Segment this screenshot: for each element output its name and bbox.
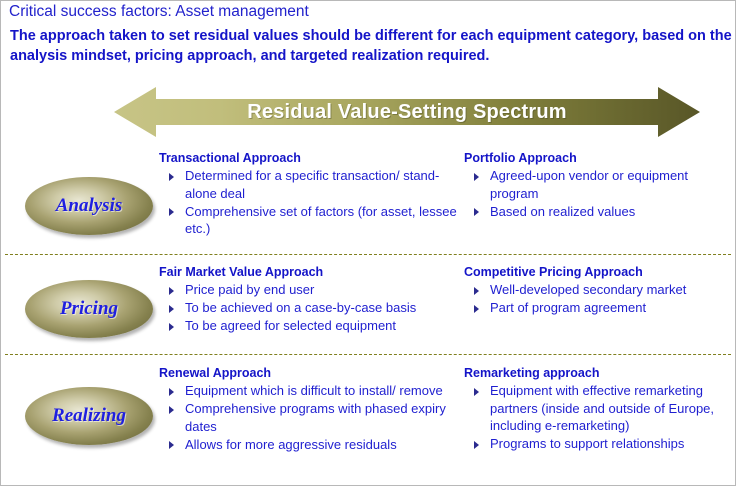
bullet-triangle-icon (169, 441, 174, 449)
list-item-text: Equipment which is difficult to install/… (185, 383, 443, 398)
bullet-triangle-icon (169, 406, 174, 414)
bullet-triangle-icon (474, 208, 479, 216)
list-item-text: Determined for a specific transaction/ s… (185, 168, 439, 201)
stage-badge-analysis: Analysis (25, 177, 153, 235)
list-item: Agreed-upon vendor or equipment program (464, 167, 734, 202)
list-item: Determined for a specific transaction/ s… (159, 167, 459, 202)
realizing-right-title: Remarketing approach (464, 366, 734, 380)
double-headed-arrow-icon (114, 85, 700, 139)
bullet-triangle-icon (169, 305, 174, 313)
list-item-text: To be agreed for selected equipment (185, 318, 396, 333)
slide-canvas: Critical success factors: Asset manageme… (0, 0, 736, 486)
analysis-right-title: Portfolio Approach (464, 151, 734, 165)
pricing-right-column: Competitive Pricing Approach Well-develo… (464, 265, 734, 317)
list-item: Equipment with effective remarketing par… (464, 382, 734, 435)
realizing-left-column: Renewal Approach Equipment which is diff… (159, 366, 459, 454)
bullet-triangle-icon (169, 323, 174, 331)
realizing-right-column: Remarketing approach Equipment with effe… (464, 366, 734, 453)
list-item: Equipment which is difficult to install/… (159, 382, 459, 400)
analysis-left-column: Transactional Approach Determined for a … (159, 151, 459, 238)
analysis-left-bullets: Determined for a specific transaction/ s… (159, 167, 459, 238)
list-item: Allows for more aggressive residuals (159, 436, 459, 454)
bullet-triangle-icon (169, 388, 174, 396)
list-item-text: Price paid by end user (185, 282, 314, 297)
list-item-text: Programs to support relationships (490, 436, 684, 451)
list-item: Comprehensive set of factors (for asset,… (159, 203, 459, 238)
bullet-triangle-icon (169, 208, 174, 216)
list-item: To be achieved on a case-by-case basis (159, 299, 459, 317)
bullet-triangle-icon (474, 173, 479, 181)
bullet-triangle-icon (474, 287, 479, 295)
list-item-text: Based on realized values (490, 204, 635, 219)
pricing-left-column: Fair Market Value Approach Price paid by… (159, 265, 459, 335)
analysis-right-bullets: Agreed-upon vendor or equipment program … (464, 167, 734, 220)
list-item: To be agreed for selected equipment (159, 317, 459, 335)
bullet-triangle-icon (474, 441, 479, 449)
realizing-left-title: Renewal Approach (159, 366, 459, 380)
list-item-text: To be achieved on a case-by-case basis (185, 300, 416, 315)
pricing-left-title: Fair Market Value Approach (159, 265, 459, 279)
list-item-text: Comprehensive set of factors (for asset,… (185, 204, 457, 237)
list-item-text: Comprehensive programs with phased expir… (185, 401, 446, 434)
stage-badge-realizing-label: Realizing (52, 405, 126, 427)
stage-badge-pricing: Pricing (25, 280, 153, 338)
list-item-text: Equipment with effective remarketing par… (490, 383, 714, 433)
list-item-text: Part of program agreement (490, 300, 646, 315)
pricing-right-bullets: Well-developed secondary market Part of … (464, 281, 734, 317)
list-item: Well-developed secondary market (464, 281, 734, 299)
bullet-triangle-icon (169, 287, 174, 295)
realizing-left-bullets: Equipment which is difficult to install/… (159, 382, 459, 453)
list-item-text: Well-developed secondary market (490, 282, 686, 297)
stage-badge-pricing-label: Pricing (60, 298, 118, 320)
realizing-right-bullets: Equipment with effective remarketing par… (464, 382, 734, 453)
slide-kicker: Critical success factors: Asset manageme… (9, 3, 309, 21)
pricing-right-title: Competitive Pricing Approach (464, 265, 734, 279)
list-item: Price paid by end user (159, 281, 459, 299)
stage-badge-realizing: Realizing (25, 387, 153, 445)
list-item: Based on realized values (464, 203, 734, 221)
row-divider-1 (5, 254, 731, 255)
list-item: Part of program agreement (464, 299, 734, 317)
spectrum-banner: Residual Value-Setting Spectrum (114, 85, 700, 139)
list-item: Comprehensive programs with phased expir… (159, 400, 459, 435)
analysis-right-column: Portfolio Approach Agreed-upon vendor or… (464, 151, 734, 221)
list-item-text: Agreed-upon vendor or equipment program (490, 168, 688, 201)
bullet-triangle-icon (169, 173, 174, 181)
stage-badge-analysis-label: Analysis (56, 195, 123, 217)
list-item: Programs to support relationships (464, 435, 734, 453)
bullet-triangle-icon (474, 305, 479, 313)
pricing-left-bullets: Price paid by end user To be achieved on… (159, 281, 459, 335)
row-divider-2 (5, 354, 731, 355)
list-item-text: Allows for more aggressive residuals (185, 437, 397, 452)
bullet-triangle-icon (474, 388, 479, 396)
slide-headline: The approach taken to set residual value… (10, 26, 732, 66)
analysis-left-title: Transactional Approach (159, 151, 459, 165)
